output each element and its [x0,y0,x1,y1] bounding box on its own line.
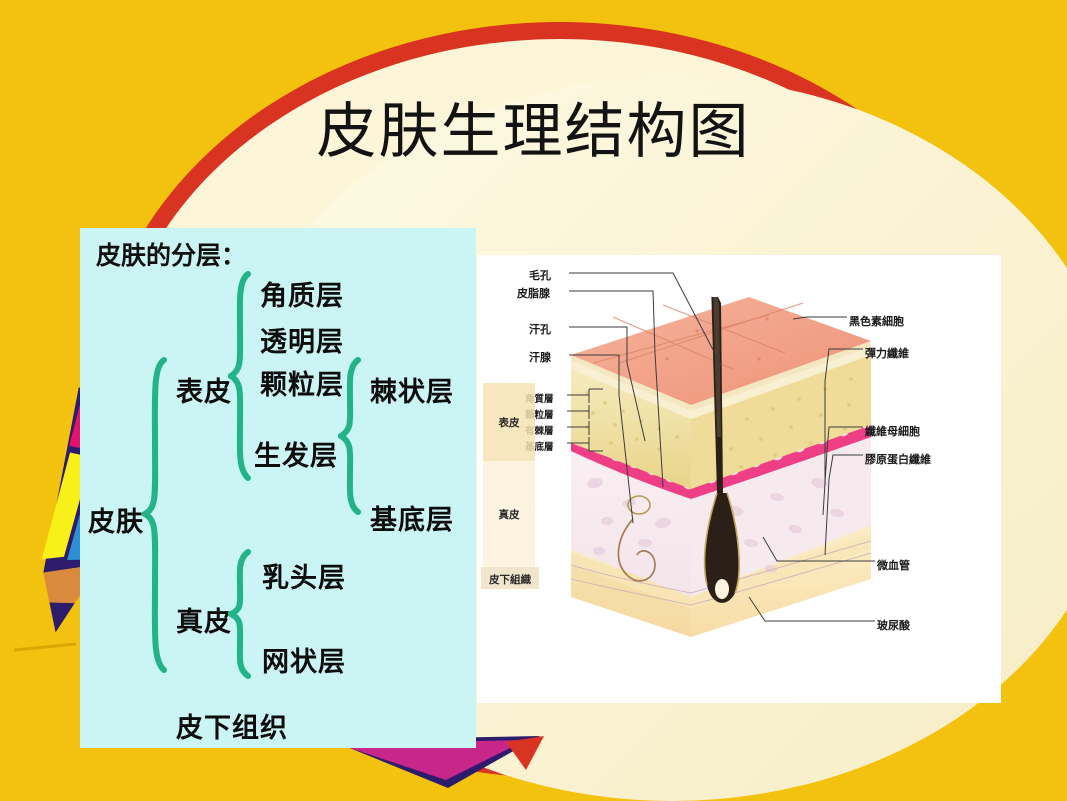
label-epidermis: 表皮 [176,370,232,409]
anatomy-illustration-panel: 毛孔 皮脂腺 汗孔 汗腺 角質層 顆粒層 有棘層 基底層 表皮 真皮 皮下組織 … [477,255,1001,703]
anno-sebaceous-gland: 皮脂腺 [517,285,550,301]
page-title: 皮肤生理结构图 [0,96,1067,168]
sidecol-label-subcutaneous: 皮下組織 [481,572,539,587]
label-stratum-lucidum: 透明层 [260,320,344,359]
anno-sweat-gland: 汗腺 [529,349,551,365]
skin-block-illustration [571,297,891,697]
layers-panel-heading: 皮肤的分层： [96,236,246,272]
sidecol-label-epidermis: 表皮 [483,415,535,430]
bracket-skin-root [142,356,172,676]
bracket-epidermis [228,270,256,482]
label-subcutaneous-tissue: 皮下组织 [176,706,288,745]
label-skin-root: 皮肤 [88,500,144,539]
label-basal-layer: 基底层 [370,498,454,537]
anno-fibroblast: 纖維母細胞 [865,423,920,439]
anno-melanocyte: 黑色素細胞 [849,313,904,329]
sidecol-label-dermis: 真皮 [483,507,535,522]
label-stratum-corneum: 角质层 [260,274,344,313]
label-papillary-layer: 乳头层 [262,556,346,595]
anno-pore: 毛孔 [529,267,551,283]
bracket-dermis [228,548,256,680]
label-dermis: 真皮 [176,600,232,639]
label-reticular-layer: 网状层 [262,640,346,679]
bracket-germinal [338,356,366,516]
anno-capillary: 微血管 [877,557,910,573]
label-spinous-layer: 棘状层 [370,370,454,409]
anno-elastic-fiber: 彈力纖維 [865,345,909,361]
anno-hyaluronic-acid: 玻尿酸 [877,617,910,633]
anno-collagen-fiber: 膠原蛋白纖維 [865,451,931,467]
anno-sweat-pore: 汗孔 [529,321,551,337]
skin-layers-panel: 皮肤的分层： 皮肤 表皮 角质层 透明层 颗粒层 生发层 棘状层 基底层 真皮 … [80,228,476,748]
label-stratum-granulosum: 颗粒层 [260,363,344,402]
label-germinal-layer: 生发层 [254,434,338,473]
